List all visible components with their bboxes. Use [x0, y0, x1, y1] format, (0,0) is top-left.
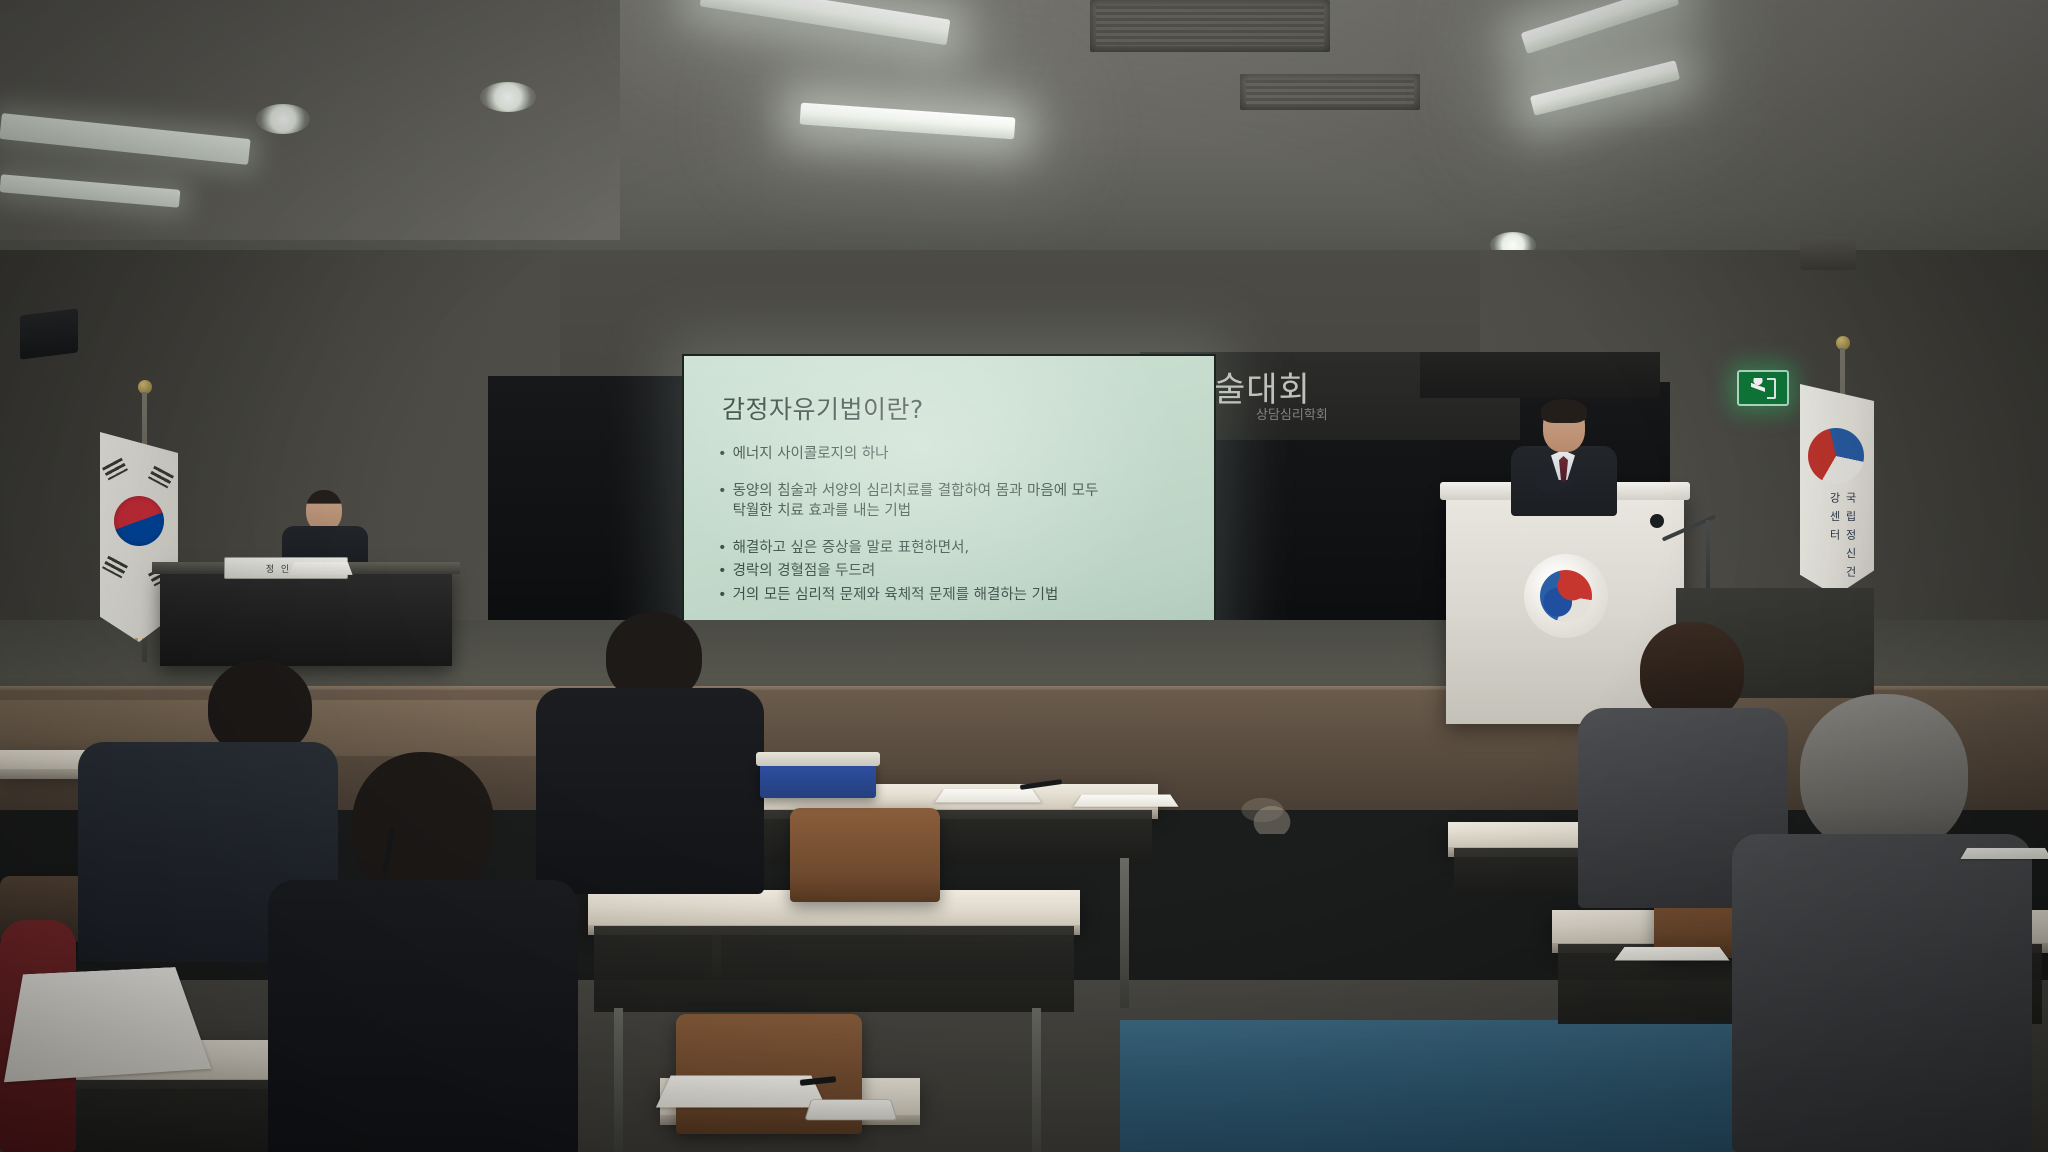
ceiling-air-vent-1	[1090, 0, 1330, 52]
organization-emblem-icon	[1808, 428, 1864, 484]
slide-title: 감정자유기법이란?	[722, 390, 924, 426]
bullet-icon: •	[718, 444, 727, 465]
audience-head	[1640, 622, 1744, 722]
gift-box	[760, 762, 876, 798]
document-on-table-3	[1960, 848, 2048, 859]
audience-head	[1800, 694, 1968, 854]
emblem-mark-icon	[1540, 570, 1592, 622]
taeguk-symbol	[114, 496, 164, 546]
document-on-table-2	[1073, 794, 1178, 806]
ceiling-downlight-2	[480, 82, 536, 112]
ceiling-air-vent-2	[1240, 74, 1420, 110]
slide-bullet-text: 에너지 사이콜로지의 하나	[733, 444, 889, 465]
smartphone-on-table	[804, 1099, 897, 1120]
slide-bullet-text: 해결하고 싶은 증상을 말로 표현하면서,	[733, 538, 969, 559]
flag-cloth: 국 립 정 신 건 강 센 터	[1800, 384, 1874, 596]
presenter	[1505, 402, 1621, 510]
wall-mounted-speaker	[20, 308, 78, 359]
audience-member-front-center	[268, 752, 578, 1152]
banner-strip	[1420, 352, 1660, 398]
slide-bullet: • 동양의 침술과 서양의 심리치료를 결합하여 몸과 마음에 모두 탁월한 치…	[718, 481, 1200, 522]
gift-box-lid	[756, 752, 880, 766]
flag-vertical-text: 국 립 정 신 건 강 센 터	[1826, 492, 1858, 596]
slide-bullet: • 경락의 경혈점을 두드려	[718, 561, 1200, 582]
stage-logo-2	[1240, 794, 1304, 834]
open-document	[289, 562, 352, 575]
running-person-icon	[1751, 378, 1765, 398]
slide-bullet: • 거의 모든 심리적 문제와 육체적 문제를 해결하는 기법	[718, 585, 1200, 606]
bullet-icon: •	[718, 481, 727, 502]
audience-member-right-front	[1732, 694, 2032, 1152]
trigram-icon	[102, 458, 128, 481]
bullet-icon: •	[718, 538, 727, 559]
microphone-head-icon	[1650, 514, 1664, 528]
bullet-icon: •	[718, 585, 727, 606]
seminar-room-photo: 술대회 상담심리학회 감정자유기법이란? • 에너지 사이콜로지의 하나 • 동…	[0, 0, 2048, 1152]
document-on-table-1	[935, 789, 1041, 803]
slide-bullet: • 해결하고 싶은 증상을 말로 표현하면서,	[718, 538, 1200, 559]
bullet-icon: •	[718, 561, 727, 582]
document-right-front	[1614, 947, 1729, 961]
exit-door-icon	[1767, 378, 1776, 399]
audience-body	[1732, 834, 2032, 1152]
trigram-icon	[102, 556, 128, 579]
slide-bullet-text: 거의 모든 심리적 문제와 육체적 문제를 해결하는 기법	[733, 585, 1059, 606]
notebook-front-left	[4, 967, 211, 1082]
blue-carpet	[1120, 1020, 1740, 1152]
audience-body	[268, 880, 578, 1152]
head-table	[160, 570, 452, 666]
banner-subtitle: 상담심리학회	[1256, 404, 1328, 423]
chair-empty-center	[790, 808, 940, 902]
presenter-hair	[1541, 399, 1587, 423]
slide-bullet: • 에너지 사이콜로지의 하나	[718, 444, 1200, 465]
ceiling-downlight-1	[256, 104, 310, 134]
audience-head	[352, 752, 494, 898]
trigram-icon	[148, 466, 174, 489]
projector-mount	[1800, 236, 1856, 270]
slide-bullet-text: 경락의 경혈점을 두드려	[733, 561, 876, 582]
slide-bullet-text: 동양의 침술과 서양의 심리치료를 결합하여 몸과 마음에 모두 탁월한 치료 …	[733, 481, 1099, 522]
emergency-exit-icon	[1737, 370, 1789, 406]
ceiling-left-panel	[0, 0, 620, 240]
slide-body: • 에너지 사이콜로지의 하나 • 동양의 침술과 서양의 심리치료를 결합하여…	[718, 444, 1200, 608]
